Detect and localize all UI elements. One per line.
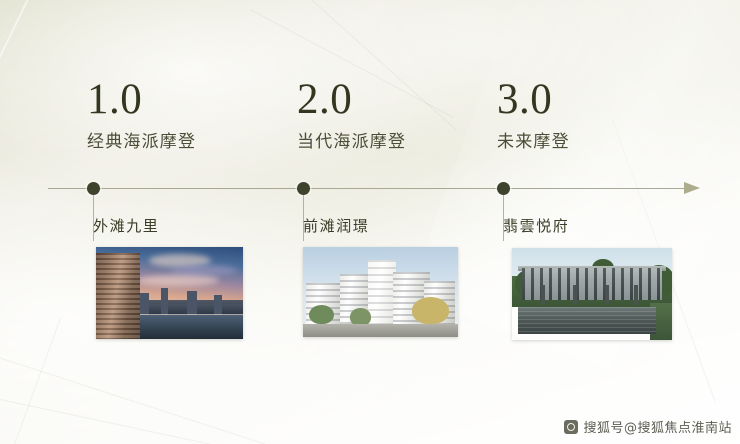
project-thumbnail-3[interactable] <box>512 248 672 340</box>
timeline-column-1: 1.0 经典海派摩登 <box>87 78 196 150</box>
timeline-axis <box>48 188 696 189</box>
project-name-2: 前滩润璟 <box>303 215 369 236</box>
watermark: 搜狐号@搜狐焦点淮南站 <box>564 417 732 436</box>
background-vein <box>0 351 266 444</box>
background-vein <box>0 0 48 347</box>
project-name-3: 翡雲悦府 <box>503 215 569 236</box>
timeline-arrow-icon <box>684 182 700 194</box>
thumbnail-3-image <box>512 248 672 340</box>
timeline-column-3: 3.0 未来摩登 <box>497 78 570 150</box>
timeline-node-3[interactable] <box>497 182 510 195</box>
version-number-2: 2.0 <box>297 78 406 121</box>
watermark-text: 搜狐号@搜狐焦点淮南站 <box>583 417 732 436</box>
version-subtitle-1: 经典海派摩登 <box>87 133 196 150</box>
building-center-tower <box>368 260 396 327</box>
background-vein <box>12 318 61 444</box>
building-column <box>634 285 638 305</box>
skyline-block <box>161 288 168 316</box>
version-number-1: 1.0 <box>87 78 196 121</box>
tree-shape <box>412 297 449 324</box>
timeline-column-2: 2.0 当代海派摩登 <box>297 78 406 150</box>
street-ground <box>303 324 458 338</box>
skyline-block <box>214 295 223 315</box>
skyline-block <box>187 291 197 315</box>
foreground-tower <box>96 253 140 339</box>
background-vein <box>0 399 323 444</box>
version-subtitle-3: 未来摩登 <box>497 133 570 150</box>
version-number-3: 3.0 <box>497 78 570 121</box>
skyline-block <box>140 293 149 315</box>
timeline-node-1[interactable] <box>87 182 100 195</box>
thumbnail-2-image <box>303 247 458 337</box>
cloud-shape <box>137 275 219 286</box>
version-subtitle-2: 当代海派摩登 <box>297 133 406 150</box>
thumbnail-1-image <box>96 247 243 339</box>
sohu-logo-icon <box>564 420 578 434</box>
timeline-node-2[interactable] <box>297 182 310 195</box>
project-thumbnail-2[interactable] <box>303 247 458 337</box>
building-column <box>605 285 609 305</box>
project-name-1: 外滩九里 <box>93 215 159 236</box>
project-thumbnail-1[interactable] <box>96 247 243 339</box>
building-column <box>541 285 545 305</box>
slide-canvas: 1.0 经典海派摩登 外滩九里 2.0 当代海派摩登 前滩润璟 <box>0 0 740 444</box>
building-column <box>573 285 577 305</box>
tree-shape <box>309 305 334 325</box>
reflecting-pool <box>518 307 656 335</box>
